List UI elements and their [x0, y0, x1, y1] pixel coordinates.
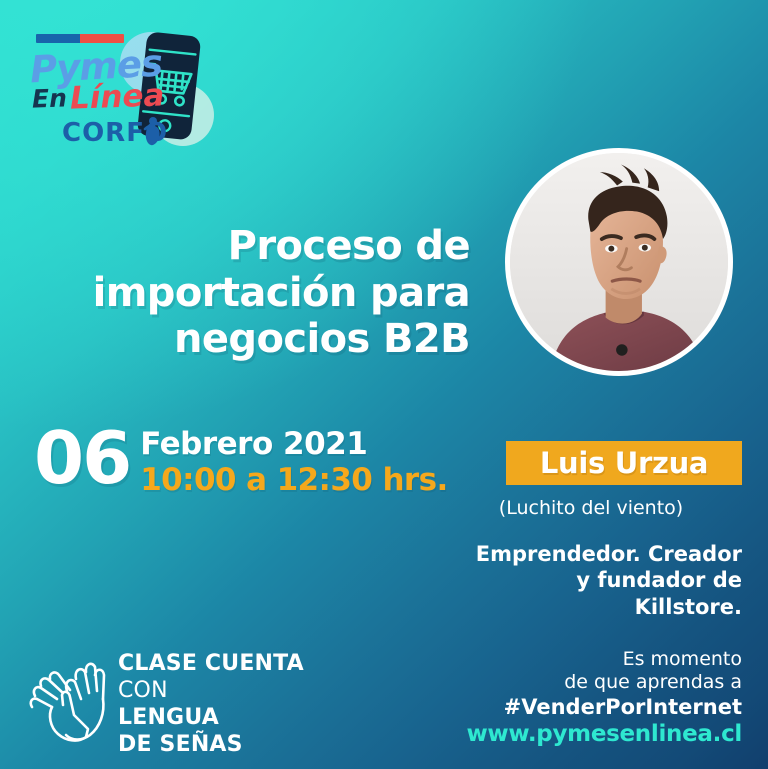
speaker-bio: Emprendedor. Creador y fundador de Kills… — [408, 541, 742, 620]
cta-line-1: Es momento — [400, 648, 742, 671]
event-day-number: 06 — [34, 424, 130, 492]
sign-language-text: CLASE CUENTA CON LENGUA DE SEÑAS — [118, 650, 304, 758]
corfo-person-figure-icon — [142, 116, 164, 146]
speaker-avatar — [505, 148, 733, 376]
cta-hashtag: #VenderPorInternet — [400, 695, 742, 720]
title-line-2: importación para — [40, 270, 470, 317]
title-line-1: Proceso de — [40, 223, 470, 270]
call-to-action: Es momento de que aprendas a #VenderPorI… — [400, 648, 742, 748]
pymes-en-linea-corfo-logo: Pymes En Línea CORFO — [24, 24, 214, 154]
page-title: Proceso de importación para negocios B2B — [40, 223, 470, 363]
speaker-name: Luis Urzua — [540, 446, 708, 480]
sign-language-line-3: DE SEÑAS — [118, 731, 304, 758]
event-time-range: 10:00 a 12:30 hrs. — [140, 463, 447, 497]
speaker-bio-line-3: Killstore. — [408, 594, 742, 620]
sign-language-line-2-bold: LENGUA — [118, 705, 219, 730]
cta-website-url[interactable]: www.pymesenlinea.cl — [400, 721, 742, 749]
logo-flag-bar-blue-segment — [36, 34, 80, 43]
title-line-3: negocios B2B — [40, 316, 470, 363]
logo-flag-bar — [36, 34, 124, 43]
speaker-nickname: (Luchito del viento) — [440, 497, 742, 519]
speaker-bio-line-1: Emprendedor. Creador — [408, 541, 742, 567]
speaker-bio-line-2: y fundador de — [408, 567, 742, 593]
sign-language-line-2-light: CON — [118, 677, 304, 704]
cta-line-2: de que aprendas a — [400, 671, 742, 694]
logo-flag-bar-red-segment — [80, 34, 124, 43]
speaker-name-banner: Luis Urzua — [506, 441, 742, 485]
event-month-year: Febrero 2021 — [140, 428, 447, 461]
speaker-portrait-photo — [510, 153, 728, 371]
sign-language-line-2: CON LENGUA — [118, 677, 304, 731]
sign-language-badge: CLASE CUENTA CON LENGUA DE SEÑAS — [26, 650, 304, 758]
sign-language-line-1: CLASE CUENTA — [118, 650, 304, 677]
event-date-block: 06 Febrero 2021 10:00 a 12:30 hrs. — [34, 424, 448, 497]
promotional-poster: Pymes En Línea CORFO Proceso de importac… — [0, 0, 768, 769]
two-hands-icon — [26, 655, 108, 753]
logo-text-en: En — [32, 85, 68, 111]
event-date-details: Febrero 2021 10:00 a 12:30 hrs. — [140, 424, 447, 497]
logo-text-linea: Línea — [69, 80, 164, 114]
